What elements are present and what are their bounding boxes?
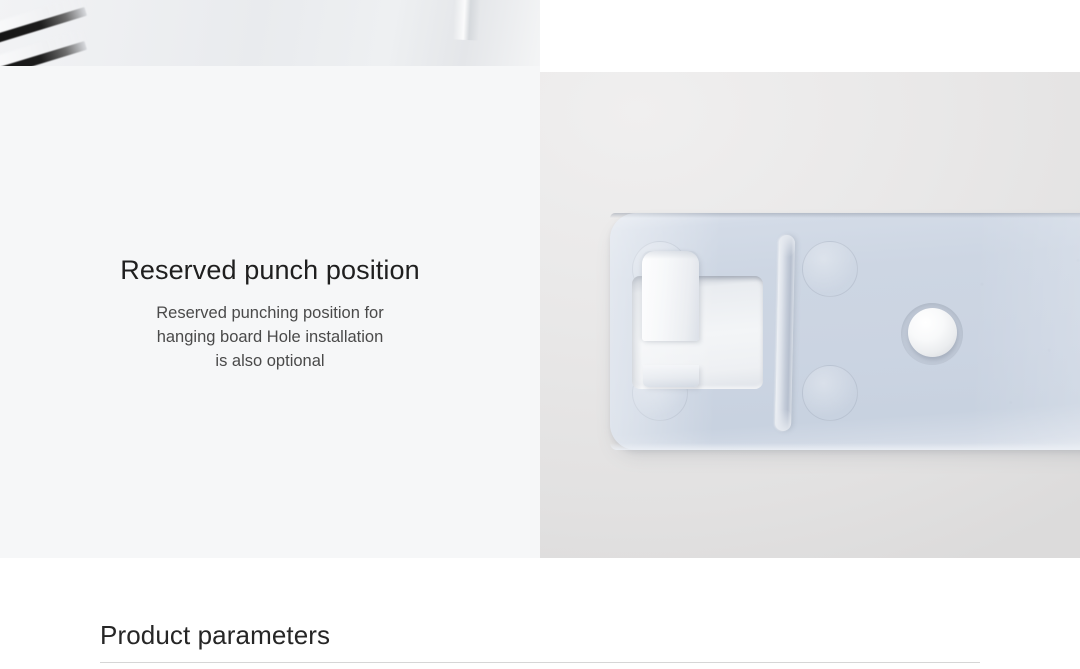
product-parameters-section: Product parameters (0, 558, 1080, 669)
previous-photo-sliver (0, 0, 540, 70)
feature-description-line-2: hanging board Hole installation (156, 325, 383, 349)
previous-photo-surface (0, 0, 540, 70)
bracket-sheen (610, 213, 1080, 450)
bracket-bottom-edge (610, 443, 1080, 450)
product-parameters-title: Product parameters (100, 622, 330, 648)
feature-description: Reserved punching position for hanging b… (156, 301, 383, 373)
feature-caption-panel: Reserved punch position Reserved punchin… (0, 70, 540, 558)
feature-photo (540, 72, 1080, 558)
product-detail-page: Reserved punch position Reserved punchin… (0, 0, 1080, 669)
feature-description-line-3: is also optional (156, 349, 383, 373)
product-parameters-divider (100, 662, 980, 663)
product-edge-highlight (453, 0, 484, 41)
wall-mount-bracket (610, 213, 1080, 450)
feature-description-line-1: Reserved punching position for (156, 301, 383, 325)
feature-title: Reserved punch position (120, 255, 419, 286)
